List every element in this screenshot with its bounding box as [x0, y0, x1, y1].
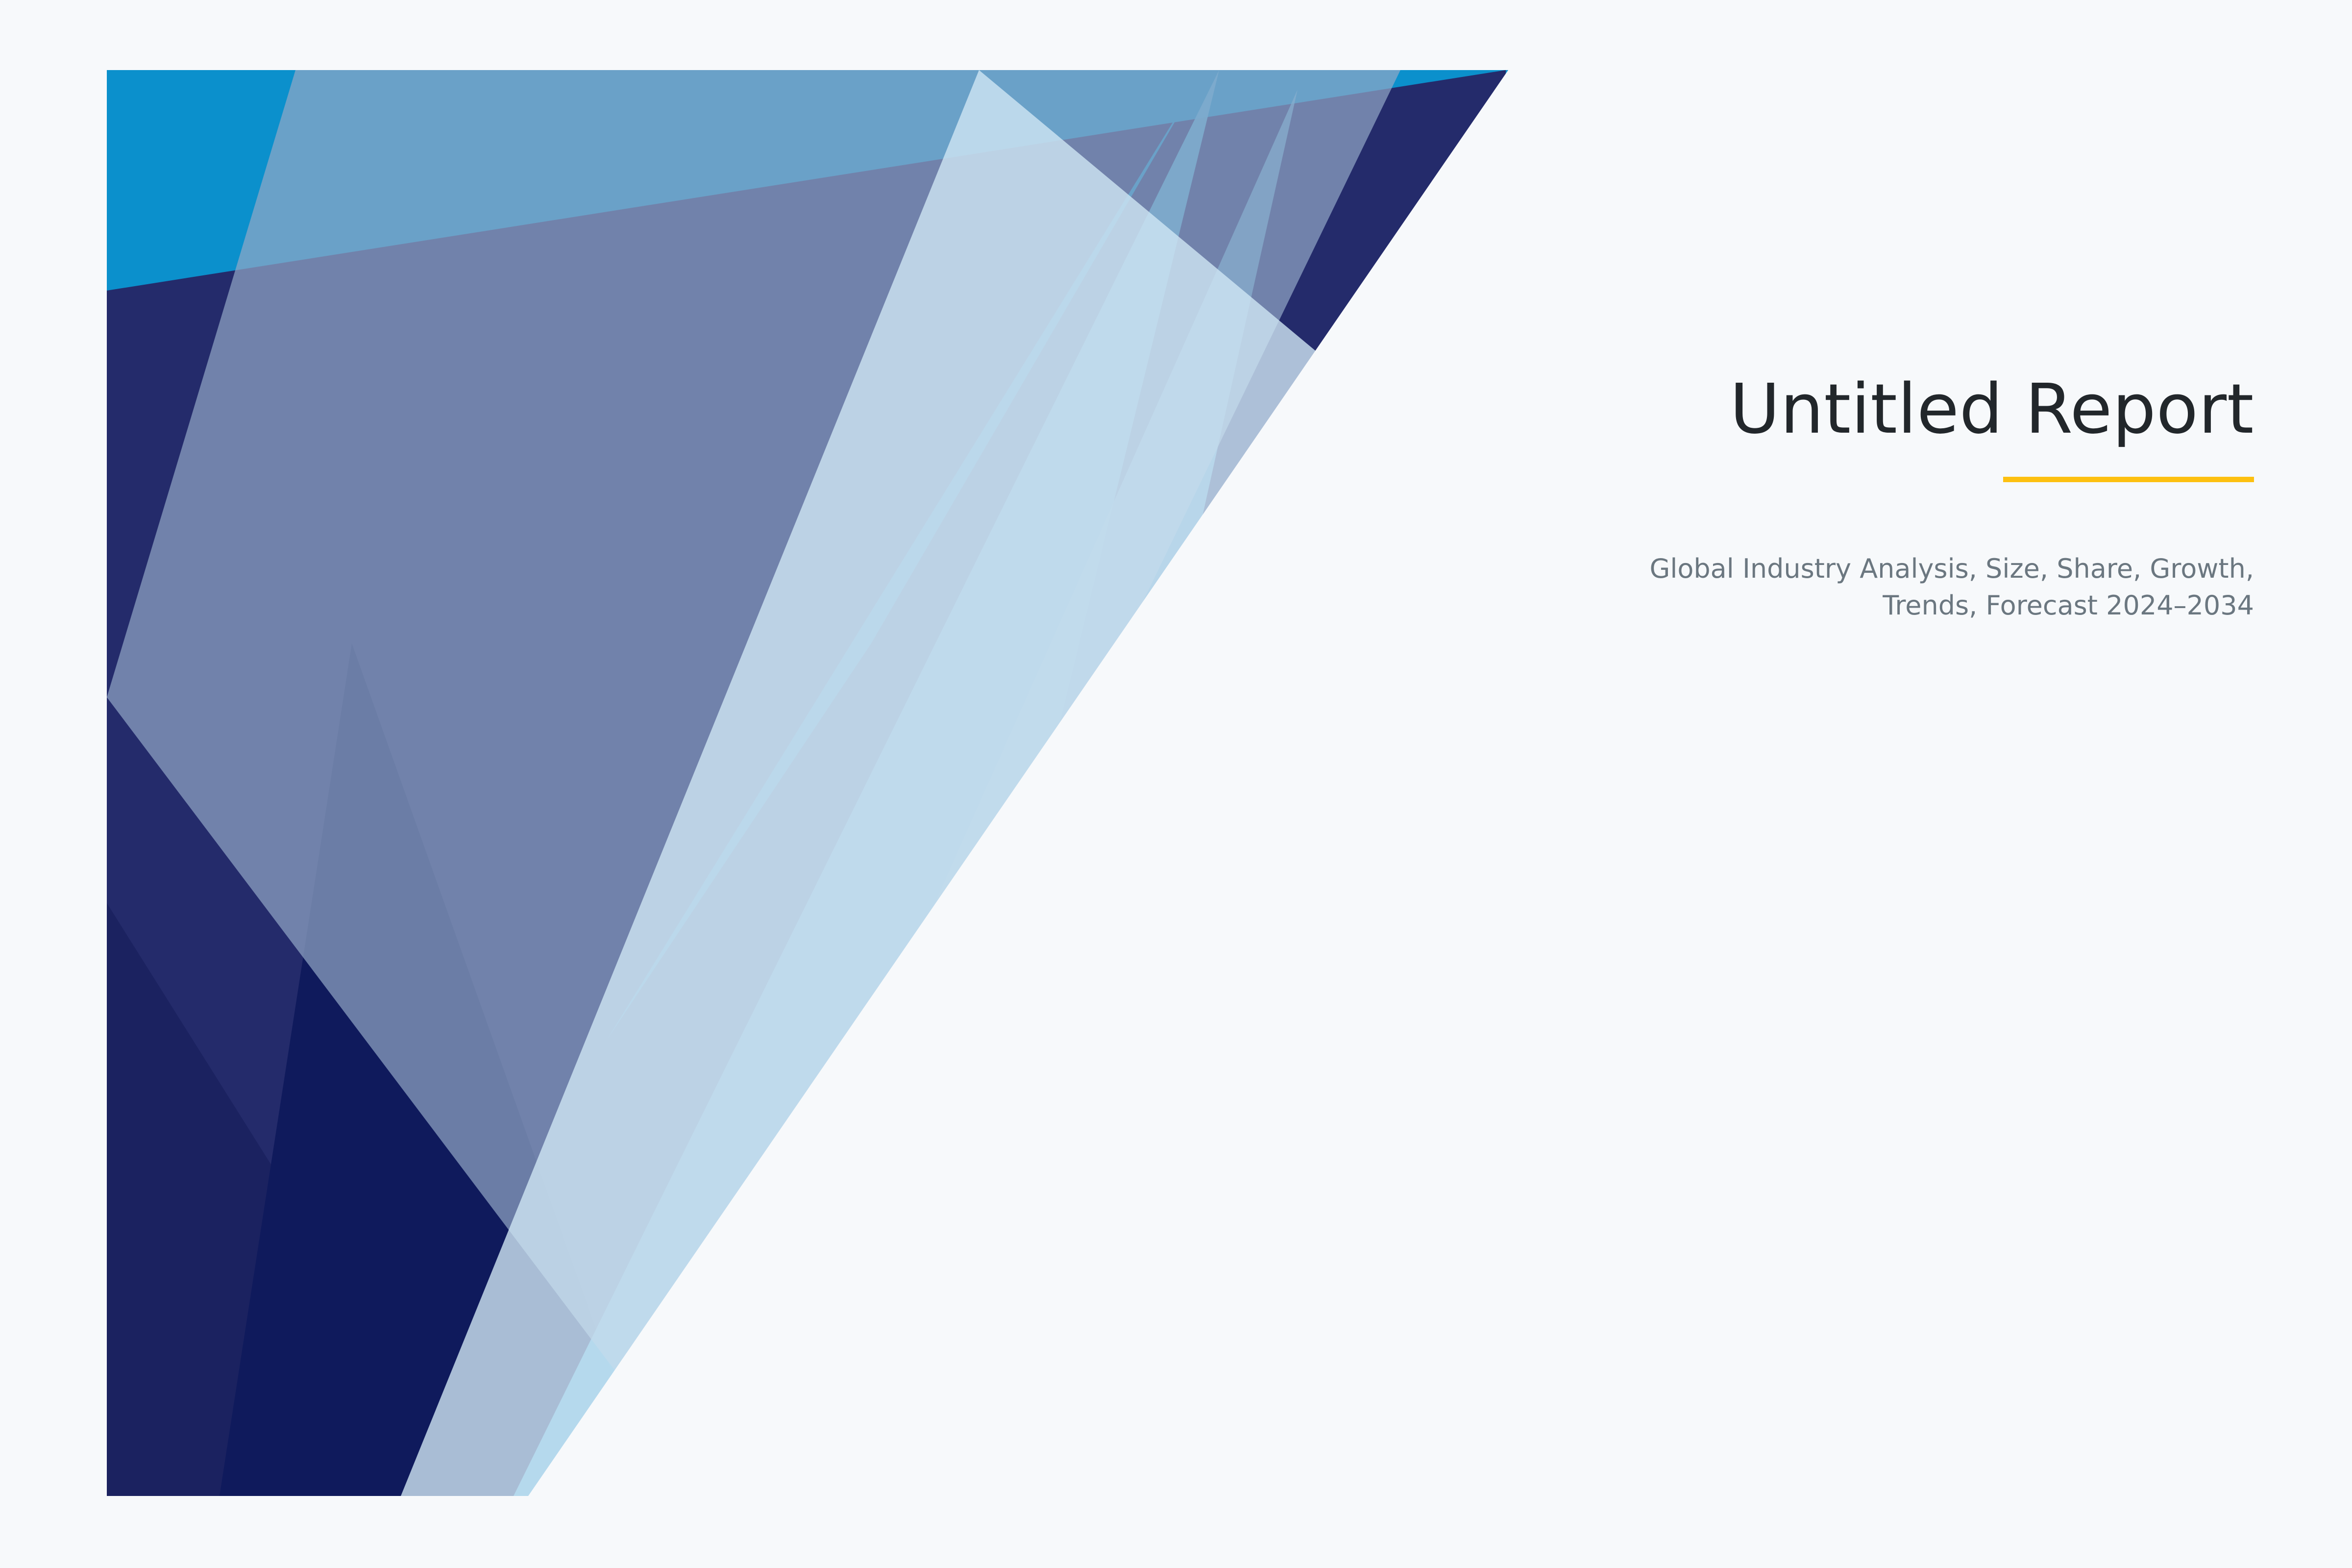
report-cover-page: Untitled Report Global Industry Analysis… — [0, 0, 2352, 1568]
page-title: Untitled Report — [1617, 372, 2254, 446]
cover-artwork — [107, 70, 1508, 1496]
abstract-geometric-art-svg — [107, 70, 1508, 1496]
accent-rule — [2003, 477, 2254, 482]
cover-text-block: Untitled Report Global Industry Analysis… — [1617, 372, 2254, 624]
report-subtitle: Global Industry Analysis, Size, Share, G… — [1617, 551, 2254, 624]
